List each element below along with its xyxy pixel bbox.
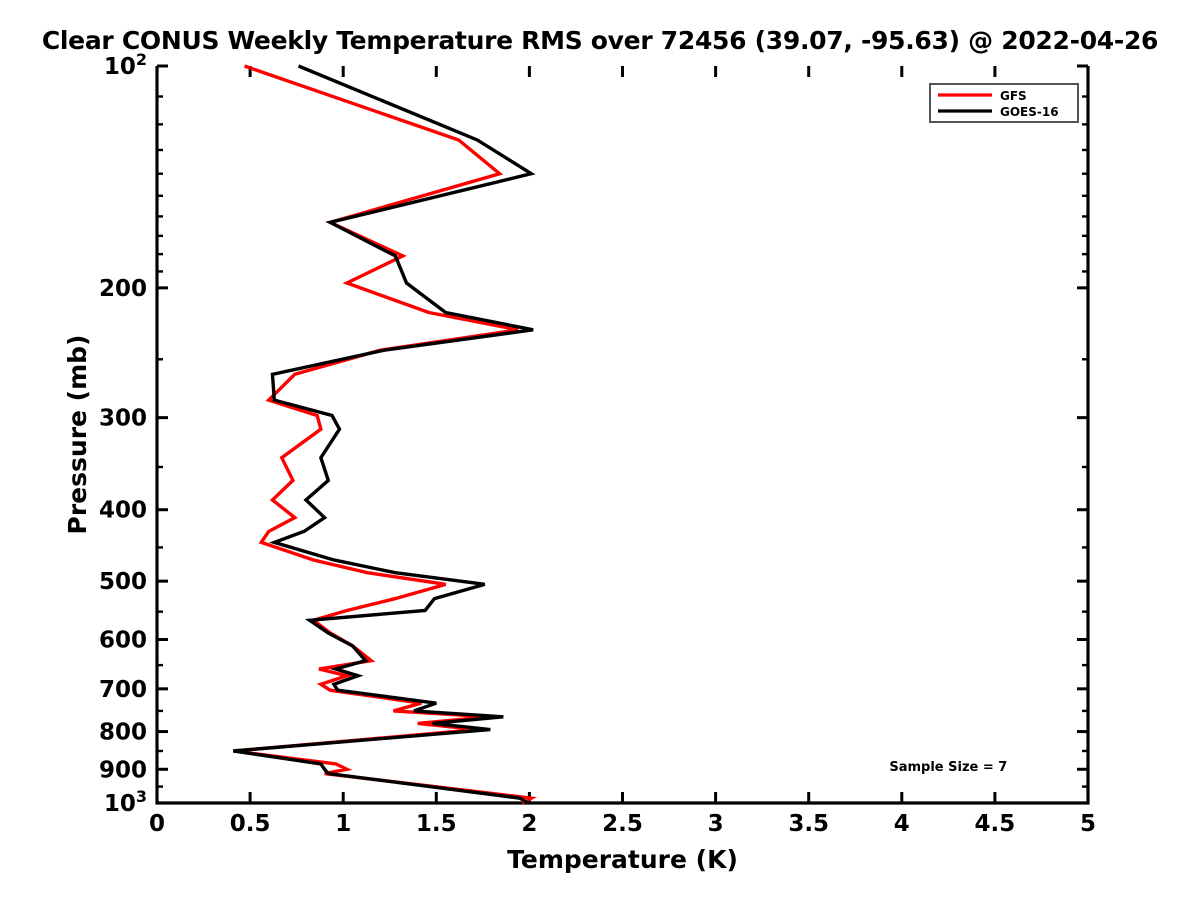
data-series-group — [233, 66, 533, 803]
x-tick-label: 0 — [149, 811, 165, 837]
x-tick-label: 2 — [521, 811, 537, 837]
y-tick-label: 200 — [99, 276, 147, 302]
y-tick-base: 10 — [104, 54, 136, 80]
series-line-gfs — [233, 66, 531, 803]
sample-size-text: Sample Size = 7 — [889, 760, 1007, 775]
x-axis-title: Temperature (K) — [507, 845, 738, 874]
chart-page: Clear CONUS Weekly Temperature RMS over … — [0, 0, 1200, 900]
x-tick-label: 4 — [894, 811, 910, 837]
x-tick-label: 2.5 — [602, 811, 643, 837]
y-tick-label: 300 — [99, 406, 147, 432]
y-tick-label: 103 — [104, 787, 147, 817]
y-axis-title: Pressure (mb) — [63, 335, 92, 535]
legend-label-goes-16: GOES-16 — [1000, 105, 1059, 119]
legend-label-gfs: GFS — [1000, 89, 1027, 103]
y-tick-label: 700 — [99, 677, 147, 703]
x-tick-label: 3 — [708, 811, 724, 837]
axis-labels-group: Temperature (K)Pressure (mb) — [63, 335, 738, 874]
axes-frame — [157, 66, 1088, 803]
x-tick-label: 1.5 — [416, 811, 457, 837]
y-tick-label: 102 — [104, 50, 147, 80]
y-tick-base: 10 — [104, 791, 136, 817]
legend: GFSGOES-16 — [930, 84, 1078, 122]
x-tick-label: 5 — [1080, 811, 1096, 837]
x-tick-label: 4.5 — [975, 811, 1016, 837]
y-tick-label: 900 — [99, 757, 147, 783]
sample-size-annotation: Sample Size = 7 — [889, 760, 1007, 775]
y-tick-exponent: 2 — [136, 50, 147, 69]
y-tick-exponent: 3 — [136, 787, 147, 806]
y-tick-label: 400 — [99, 498, 147, 524]
axes-box — [157, 66, 1088, 803]
plot-canvas: 00.511.522.533.544.55 102200300400500600… — [0, 0, 1200, 900]
x-tick-label: 1 — [335, 811, 351, 837]
y-axis-ticks: 102200300400500600700800900103 — [99, 50, 1088, 817]
x-tick-label: 0.5 — [230, 811, 271, 837]
y-tick-label: 500 — [99, 569, 147, 595]
y-tick-label: 800 — [99, 720, 147, 746]
x-tick-label: 3.5 — [788, 811, 829, 837]
y-tick-label: 600 — [99, 627, 147, 653]
